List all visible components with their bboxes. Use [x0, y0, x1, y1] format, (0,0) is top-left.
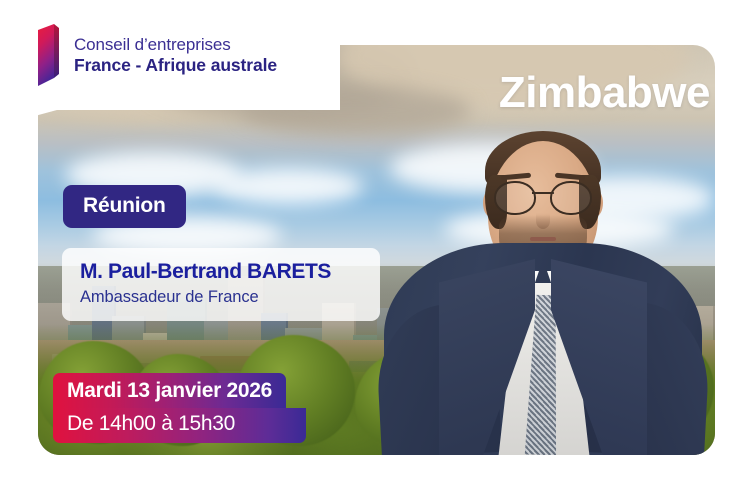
speaker-portrait	[378, 115, 708, 455]
speaker-info-panel: M. Paul-Bertrand BARETS Ambassadeur de F…	[62, 248, 380, 321]
event-time: De 14h00 à 15h30	[53, 408, 306, 443]
glasses-icon	[494, 181, 592, 211]
brand-header: Conseil d’entreprises France - Afrique a…	[0, 0, 340, 110]
event-date: Mardi 13 janvier 2026	[53, 373, 286, 408]
country-title: Zimbabwe	[499, 68, 710, 118]
brand-line-2: France - Afrique australe	[74, 55, 277, 76]
conseil-entreprises-logo-icon	[38, 24, 60, 86]
speaker-name: M. Paul-Bertrand BARETS	[80, 260, 362, 284]
event-type-badge: Réunion	[63, 185, 186, 228]
event-card: Conseil d’entreprises France - Afrique a…	[0, 0, 750, 500]
brand-wordmark: Conseil d’entreprises France - Afrique a…	[74, 35, 277, 76]
cloud-shape	[214, 168, 363, 205]
event-datetime-badge: Mardi 13 janvier 2026 De 14h00 à 15h30	[53, 373, 306, 443]
mouth	[530, 237, 556, 241]
brand-line-1: Conseil d’entreprises	[74, 35, 277, 55]
speaker-role: Ambassadeur de France	[80, 288, 362, 307]
